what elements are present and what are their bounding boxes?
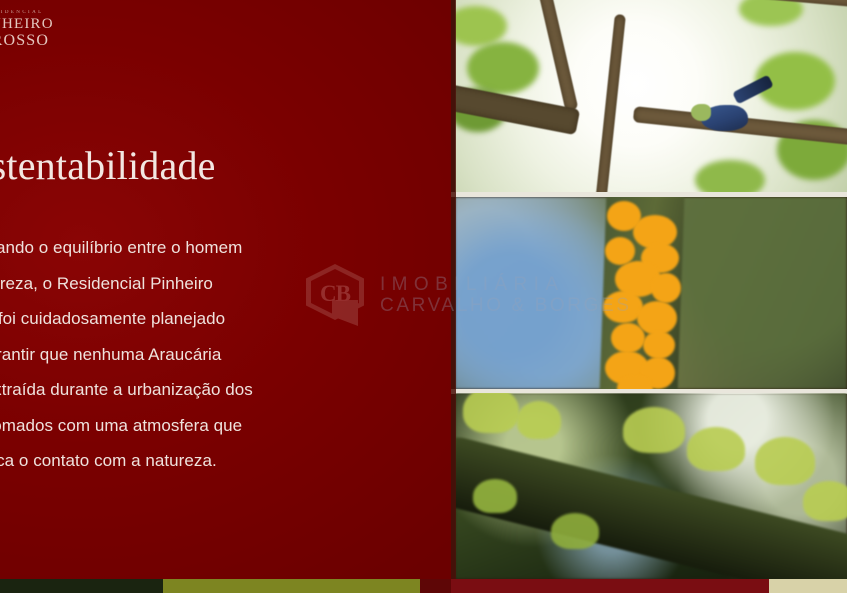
body-copy-line: para garantir que nenhuma Araucária xyxy=(0,337,358,373)
photo-bird-on-branch xyxy=(455,0,847,192)
fungus-blob xyxy=(643,331,675,359)
accent-segment-olive-green xyxy=(163,579,420,593)
fungus-blob xyxy=(637,301,677,335)
body-copy-line: lotes, somados com uma atmosfera que xyxy=(0,408,358,444)
brand-logo: RESIDENCIAL PINHEIRO GROSSO xyxy=(0,10,54,54)
foliage-blob xyxy=(695,160,765,192)
epiphyte xyxy=(551,513,599,549)
brand-kicker: RESIDENCIAL xyxy=(0,10,54,15)
foliage-blob xyxy=(467,42,539,94)
accent-segment-deep-red xyxy=(420,579,451,593)
body-copy-line: Respeitando o equilíbrio entre o homem xyxy=(0,230,358,266)
body-copy-block: Respeitando o equilíbrio entre o homem e… xyxy=(0,230,358,479)
photo-column xyxy=(451,0,847,579)
accent-segment-dark-green xyxy=(0,579,163,593)
epiphyte xyxy=(755,437,815,485)
photo-mossy-branch xyxy=(455,393,847,579)
epiphyte xyxy=(463,393,519,433)
slide-headline: Sustentabilidade xyxy=(0,142,216,189)
fungus-blob xyxy=(651,273,681,303)
photo-column-edge xyxy=(451,0,456,579)
photo-orange-fungus xyxy=(455,197,847,389)
fungus-blob xyxy=(611,323,645,353)
brand-word-pinheiro: PINHEIRO xyxy=(0,17,54,32)
epiphyte xyxy=(623,407,685,453)
epiphyte xyxy=(687,427,745,471)
body-copy-line: e a natureza, o Residencial Pinheiro xyxy=(0,266,358,302)
accent-segment-brand-red xyxy=(451,579,769,593)
presentation-slide: RESIDENCIAL PINHEIRO GROSSO Sustentabili… xyxy=(0,0,847,593)
epiphyte xyxy=(517,401,561,439)
epiphyte xyxy=(473,479,517,513)
left-text-panel: RESIDENCIAL PINHEIRO GROSSO Sustentabili… xyxy=(0,0,451,579)
accent-segment-sand-beige xyxy=(769,579,847,593)
bottom-accent-strip xyxy=(0,579,847,593)
brand-word-grosso: GROSSO xyxy=(0,33,54,49)
body-copy-line: fosse extraída durante a urbanização dos xyxy=(0,372,358,408)
body-copy-line: Grosso foi cuidadosamente planejado xyxy=(0,301,358,337)
body-copy-line: intensifica o contato com a natureza. xyxy=(0,443,358,479)
epiphyte xyxy=(803,481,847,521)
bird-head xyxy=(691,104,711,121)
